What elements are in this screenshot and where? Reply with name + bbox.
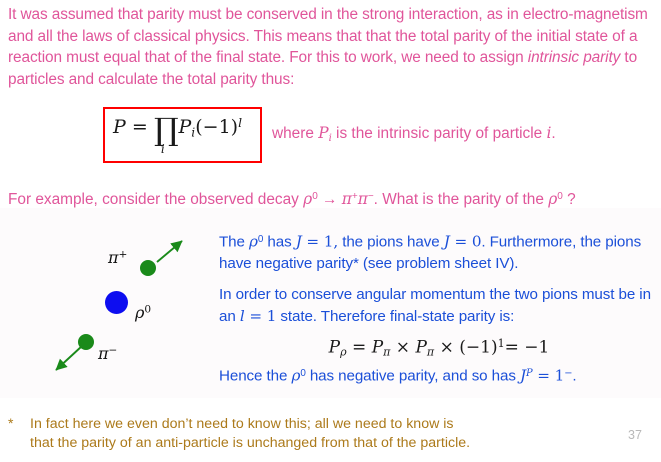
final-parity-equation: Pρ = Pπ × Pπ × (−1)1= −1: [219, 337, 659, 358]
hence-equals: =: [533, 367, 555, 385]
example-end: ?: [563, 191, 576, 208]
example-pi-minus: π: [358, 190, 368, 208]
rho-zero-label: ρ0: [135, 303, 151, 322]
equation-factor-base: P: [179, 116, 192, 138]
example-rho-2: ρ: [548, 190, 557, 208]
para2-equals: =: [245, 307, 267, 325]
para1-spin-value-2: 0: [472, 233, 482, 251]
decay-diagram: π+ ρ0 π−: [0, 220, 215, 385]
where-symbol: P: [318, 124, 328, 142]
where-after: is the intrinsic parity of particle: [332, 125, 547, 142]
final-equals-1: =: [347, 337, 372, 357]
footnote-line-1: In fact here we even don’t need to know …: [30, 415, 590, 434]
para2-orbital-value: 1: [267, 307, 277, 325]
para2-s2: state. Therefore final-state parity is:: [276, 308, 514, 325]
example-middle: . What is the parity of the: [374, 191, 549, 208]
final-times-1: ×: [390, 337, 415, 357]
equation-equals: =: [132, 116, 148, 138]
rho-zero-particle-dot: [105, 291, 128, 314]
footnote-line-2: that the parity of an anti-particle is u…: [30, 434, 590, 453]
product-operator-icon: ∏i: [154, 119, 179, 141]
example-arrow-icon: →: [318, 191, 342, 208]
para1-equals-1: =: [302, 233, 324, 251]
pi-minus-particle-dot: [78, 334, 94, 350]
pi-plus-label: π+: [108, 248, 127, 267]
example-question-line: For example, consider the observed decay…: [8, 190, 576, 209]
slide-canvas: It was assumed that parity must be conse…: [0, 0, 661, 462]
where-before: where: [272, 125, 318, 142]
explanation-paragraph-1: The ρ0 has J = 1, the pions have J = 0. …: [219, 229, 659, 275]
hence-s1: Hence the: [219, 368, 291, 385]
rho-zero-label-base: ρ: [135, 303, 144, 322]
where-period: .: [551, 125, 555, 142]
para1-s5: (see problem sheet IV).: [359, 255, 519, 272]
example-rho: ρ: [303, 190, 312, 208]
para1-spin-value-1: 1,: [324, 233, 338, 251]
final-times-2: ×: [434, 337, 459, 357]
product-symbol: ∏: [154, 112, 179, 148]
equation-phase-exponent: l: [238, 116, 242, 130]
hence-period: .: [572, 368, 576, 385]
footnote-marker: *: [8, 415, 13, 431]
final-term-2: P: [415, 337, 426, 357]
where-note: where Pi is the intrinsic parity of part…: [272, 124, 556, 144]
final-result: −1: [524, 337, 549, 357]
para1-s1: The: [219, 234, 249, 251]
pi-plus-label-base: π: [108, 248, 119, 267]
equation-lhs: P: [113, 116, 126, 138]
rho-zero-label-charge: 0: [144, 304, 151, 316]
para1-equals-2: =: [450, 233, 472, 251]
parity-equation: P = ∏iPi(−1)l: [113, 116, 242, 141]
para1-s2: has: [263, 234, 295, 251]
conclusion-line: Hence the ρ0 has negative parity, and so…: [219, 363, 659, 387]
para1-rho: ρ: [249, 233, 258, 251]
final-phase: (−1): [459, 337, 497, 357]
final-term-1: P: [372, 337, 383, 357]
pi-minus-label-charge: −: [109, 345, 118, 357]
final-equals-2: =: [505, 337, 525, 357]
final-lhs: P: [329, 337, 340, 357]
para1-s3: the pions have: [338, 234, 444, 251]
example-before: For example, consider the observed decay: [8, 191, 303, 208]
pi-plus-label-charge: +: [119, 249, 128, 261]
explanation-paragraph-2: In order to conserve angular momentum th…: [219, 284, 659, 327]
pi-plus-particle-dot: [140, 260, 156, 276]
equation-phase: (−1): [195, 116, 238, 138]
footnote-text: In fact here we even don’t need to know …: [30, 415, 590, 453]
hence-s2: has negative parity, and so has: [306, 368, 520, 385]
final-phase-exponent: 1: [498, 337, 505, 350]
pi-minus-label-base: π: [98, 344, 109, 363]
product-index: i: [161, 145, 165, 154]
pi-minus-label: π−: [98, 344, 117, 363]
intro-paragraph: It was assumed that parity must be conse…: [8, 4, 654, 90]
hence-value: 1: [555, 367, 565, 385]
slide-number: 37: [628, 428, 642, 442]
hence-rho: ρ: [291, 367, 300, 385]
intro-emphasis-intrinsic-parity: intrinsic parity: [528, 49, 620, 66]
example-pi-plus: π: [342, 190, 352, 208]
